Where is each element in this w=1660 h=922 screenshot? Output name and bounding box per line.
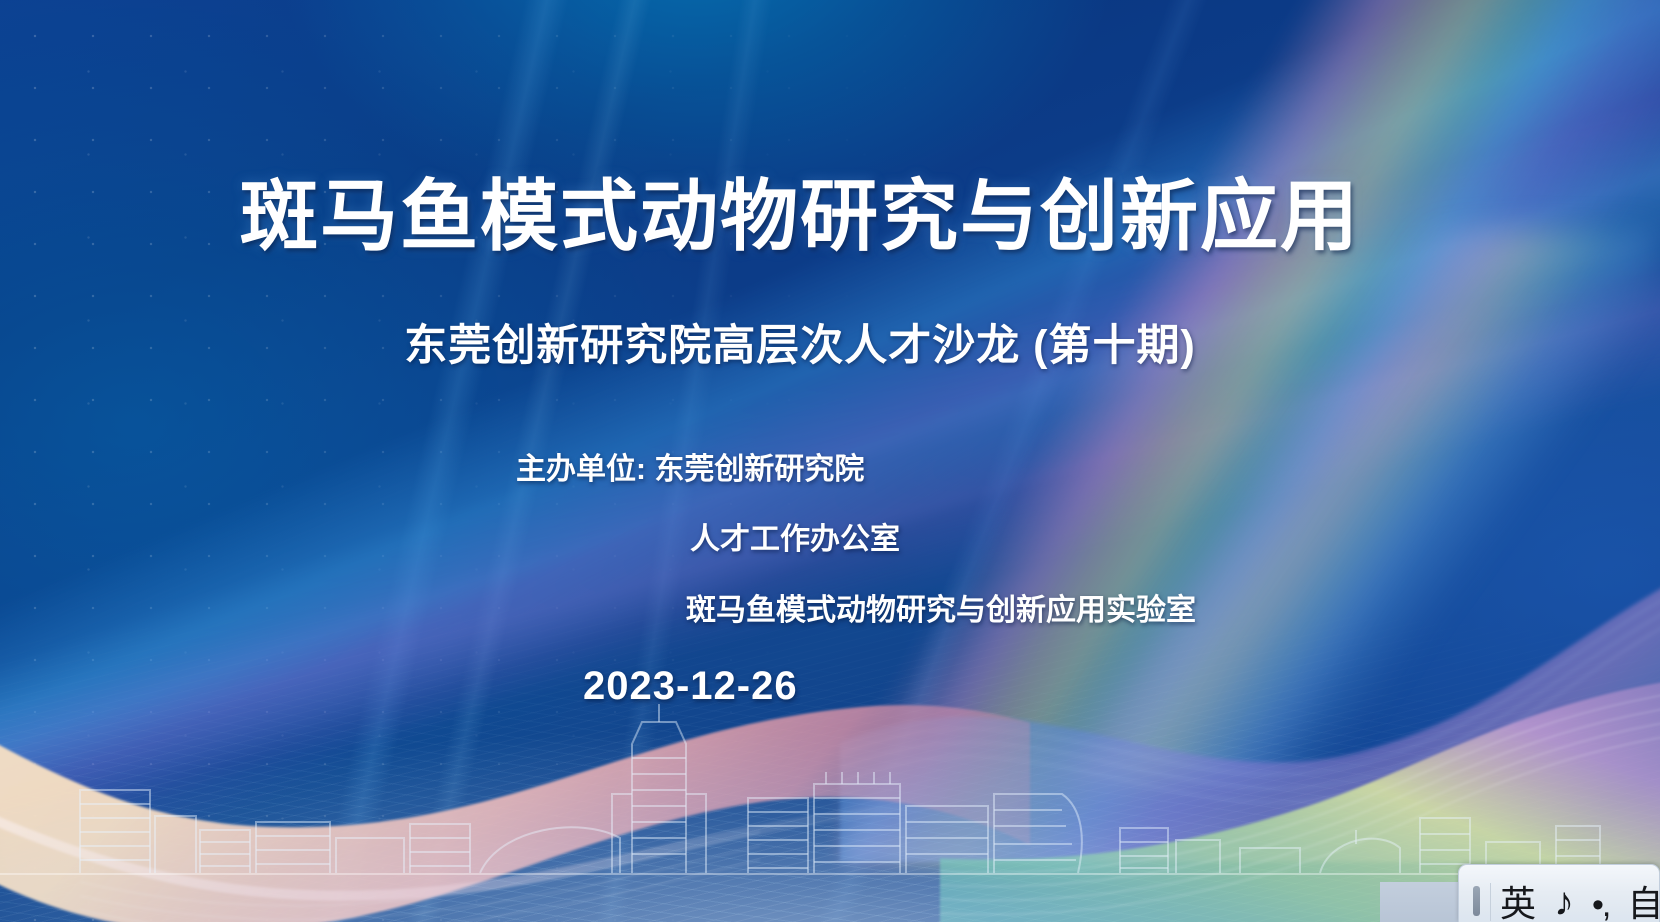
page-title: 斑马鱼模式动物研究与创新应用 — [0, 174, 1600, 258]
organizer-line-office: 人才工作办公室 — [690, 525, 1660, 555]
punctuation-mode-icon[interactable]: •, — [1583, 864, 1618, 922]
more-options-icon[interactable]: 自 — [1618, 864, 1660, 922]
slide-subtitle: 东莞创新研究院高层次人才沙龙 (第十期) — [0, 311, 1600, 373]
ime-toolbar[interactable]: 英 ♪ •, 自 — [1458, 864, 1660, 922]
language-mode-icon[interactable]: 英 — [1491, 864, 1545, 922]
organizer-line-lab: 斑马鱼模式动物研究与创新应用实验室 — [686, 596, 1660, 626]
presentation-slide: 斑马鱼模式动物研究与创新应用 东莞创新研究院高层次人才沙龙 (第十期) 主办单位… — [0, 0, 1660, 922]
soft-keyboard-icon[interactable]: ♪ — [1545, 864, 1583, 922]
event-date: 2023-12-26 — [583, 664, 798, 709]
ime-drag-grip-icon[interactable] — [1473, 886, 1480, 916]
organizer-block: 主办单位: 东莞创新研究院 人才工作办公室 斑马鱼模式动物研究与创新应用实验室 — [0, 455, 1660, 626]
slide-content: 斑马鱼模式动物研究与创新应用 东莞创新研究院高层次人才沙龙 (第十期) 主办单位… — [0, 0, 1660, 922]
organizer-line-host: 主办单位: 东莞创新研究院 — [516, 455, 1660, 485]
